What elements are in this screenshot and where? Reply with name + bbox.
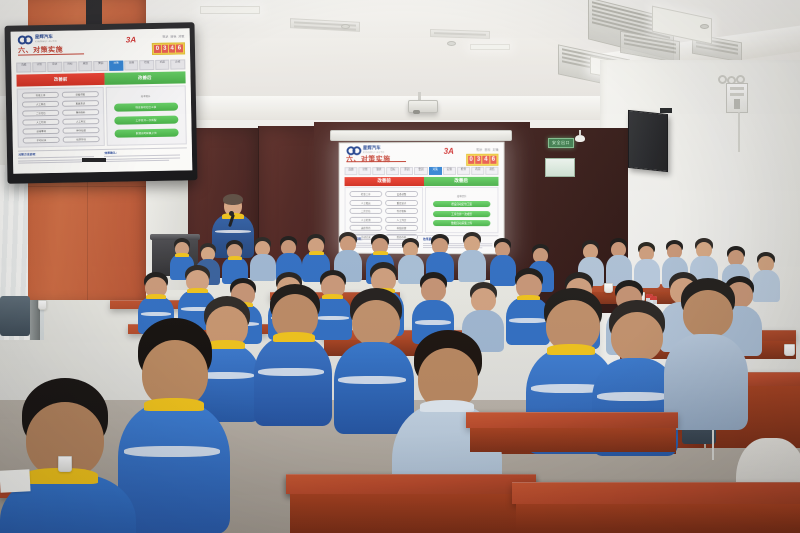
- slide-tab: 原因: [78, 61, 93, 71]
- slide-tab-active: 对策: [109, 61, 124, 71]
- slide-head-labels: 现状 目标 对策: [476, 147, 498, 151]
- microphone-head-icon: [229, 211, 234, 216]
- speaker-bracket: [660, 108, 672, 113]
- security-camera-icon: [575, 130, 585, 142]
- ceiling-light: [200, 6, 260, 14]
- slide-tab: 计划: [358, 167, 371, 175]
- tv-stand: [82, 158, 106, 162]
- paper-sheet: [0, 469, 31, 493]
- after-note: 效率提升: [114, 94, 178, 99]
- flow-column: 检查工序 人工搬运 二次定位 人工检测 返修等待 手动记录: [349, 191, 382, 229]
- slide-on-tv: 星辉汽车 XINGHUI AUTO 3A 现状 目标 对策 0 3: [11, 28, 193, 173]
- slide-head-labels: 现状 目标 对策: [162, 35, 184, 39]
- smoke-detector-icon: [341, 24, 350, 29]
- flow-box: 二次定位: [22, 110, 59, 117]
- flow-box: 重复装夹: [385, 199, 418, 205]
- band-after: 改善后: [424, 176, 498, 185]
- slide-tab: 要因: [94, 61, 109, 71]
- ceiling-light: [470, 44, 510, 50]
- flow-box: 返修等待: [23, 128, 60, 135]
- slide-tab: 选题: [17, 63, 32, 73]
- wall-notice-board: [545, 158, 575, 177]
- flow-box: 设备调整: [62, 91, 99, 98]
- flow-column: 设备调整 重复装夹 等待物料 人工判定 停线处理 纸质存档: [62, 91, 100, 143]
- tv-screen: 星辉汽车 XINGHUI AUTO 3A 现状 目标 对策 0 3: [11, 28, 193, 173]
- slide-tab: 选题: [344, 167, 357, 175]
- after-step: 增设自动定位工装: [114, 102, 178, 111]
- slide-mark-3a: 3A: [444, 147, 454, 156]
- slide-body: 检查工序 人工搬运 二次定位 人工检测 返修等待 手动记录 设备调整 重复装夹 …: [344, 187, 498, 234]
- wall-cable: [738, 112, 740, 152]
- slide-tab: 总结: [170, 60, 185, 70]
- exit-sign: 安全出口: [548, 138, 574, 148]
- ac-vent: [430, 29, 490, 39]
- slide-body: 检查工序 人工搬运 二次定位 人工检测 返修等待 手动记录 设备调整 重复装夹 …: [17, 85, 186, 148]
- flow-box: 等待物料: [385, 208, 418, 214]
- desk-row-front-overlap: [466, 412, 678, 428]
- slide-title: 六、对策实施: [346, 154, 391, 164]
- flow-box: 返修等待: [349, 225, 382, 231]
- slide-band-row: 改善前 改善后: [344, 176, 498, 186]
- desk-panel: [470, 428, 676, 452]
- band-before: 改善前: [17, 73, 105, 87]
- slide-tab: 现状: [372, 167, 385, 175]
- projector-lens-icon: [413, 110, 420, 114]
- slide-tab: 目标: [63, 62, 78, 72]
- after-step: 增设自动定位工装: [433, 201, 490, 207]
- presenter-stripe: [215, 230, 251, 233]
- ceiling-projector: [408, 100, 438, 113]
- desk-panel: [516, 504, 800, 533]
- flow-box: 停线处理: [385, 225, 418, 231]
- desk-row-front-overlap: [286, 474, 536, 494]
- slide-tab: 巩固: [471, 167, 484, 175]
- tv-wall-mount: [86, 0, 102, 26]
- flow-box: 人工检测: [23, 119, 60, 126]
- slide-timer: 0 3 4 6: [152, 42, 185, 55]
- company-logo-icon: 星辉汽车 XINGHUI AUTO: [18, 35, 57, 45]
- band-after: 改善后: [104, 72, 185, 86]
- wall-control-panel[interactable]: [726, 83, 748, 113]
- slide-tab: 实施: [443, 167, 456, 175]
- slide-tab: 现状: [47, 62, 62, 72]
- audience-member-front: [254, 284, 332, 420]
- logo-sub: XINGHUI AUTO: [35, 40, 57, 43]
- slide-header: 星辉汽车 XINGHUI AUTO 3A 现状 目标 对策 0 3: [11, 28, 191, 63]
- slide-tab: 检查: [140, 60, 155, 70]
- audience-member: [606, 238, 632, 284]
- flow-before: 检查工序 人工搬运 二次定位 人工检测 返修等待 手动记录 设备调整 重复装夹 …: [17, 87, 105, 148]
- audience-member-front: [664, 278, 748, 458]
- desk-row-front-overlap: [512, 482, 800, 504]
- audience-member: [222, 240, 248, 282]
- desk-panel: [290, 494, 534, 533]
- slide-tab: 原因: [400, 167, 413, 175]
- smoke-detector-icon: [447, 41, 456, 46]
- flow-box: 检查工序: [22, 92, 59, 99]
- flow-box: 纸质存档: [63, 136, 100, 143]
- flow-box: 人工搬运: [349, 199, 382, 205]
- flow-box: 二次定位: [349, 208, 382, 214]
- flow-box: 重复装夹: [62, 100, 99, 107]
- paper-cup: [38, 300, 47, 310]
- wall-speaker: [628, 110, 668, 172]
- flow-box: 设备调整: [385, 191, 418, 197]
- slide-tab-active: 对策: [429, 167, 442, 175]
- slide-tab: 实施: [124, 61, 139, 71]
- slide-timer: 0 3 4 6: [466, 153, 499, 165]
- audience-member: [458, 232, 486, 280]
- flow-box: 人工搬运: [22, 101, 59, 108]
- flow-column: 检查工序 人工搬运 二次定位 人工检测 返修等待 手动记录: [22, 92, 60, 144]
- after-step: 数据自动采集上传: [433, 220, 490, 226]
- flow-after: 效率提升 增设自动定位工装 工序合并一次成型 数据自动采集上传: [425, 187, 499, 234]
- flow-box: 检查工序: [349, 191, 382, 197]
- paper-cup: [58, 456, 72, 472]
- flow-before: 检查工序 人工搬运 二次定位 人工检测 返修等待 手动记录 设备调整 重复装夹 …: [344, 187, 422, 233]
- flow-box: 人工判定: [385, 216, 418, 222]
- after-step: 工序合并一次成型: [114, 115, 178, 124]
- slide-tab: 要因: [414, 167, 427, 175]
- slide-tab: 巩固: [155, 60, 170, 70]
- slide-title-underline: [346, 161, 406, 162]
- screen-roller-case: [330, 130, 512, 141]
- exit-sign-label: 安全出口: [549, 139, 573, 147]
- after-step: 工序合并一次成型: [433, 211, 490, 217]
- presenter-hair: [223, 194, 243, 205]
- slide-tabs: 选题 计划 现状 目标 原因 要因 对策 实施 检查 巩固 总结: [17, 60, 185, 73]
- flow-box: 人工检测: [349, 216, 382, 222]
- slide-mark-3a: 3A: [126, 35, 136, 44]
- flow-box: 停线处理: [63, 127, 100, 134]
- slide-tabs: 选题 计划 现状 目标 原因 要因 对策 实施 检查 巩固 总结: [344, 167, 498, 175]
- chair: [0, 296, 30, 336]
- flow-box: 手动记录: [23, 137, 60, 144]
- slide-tab: 目标: [386, 167, 399, 175]
- slide-header: 星辉汽车 XINGHUI AUTO 3A 现状 目标 对策 0 3 4 6: [340, 143, 504, 168]
- flow-column: 设备调整 重复装夹 等待物料 人工判定 停线处理 纸质存档: [385, 191, 418, 229]
- band-before: 改善前: [344, 177, 424, 186]
- note-column: 效果确认：: [104, 149, 186, 169]
- after-step: 数据自动采集上传: [114, 128, 178, 137]
- after-note: 效率提升: [433, 194, 490, 198]
- flow-after: 效率提升 增设自动定位工装 工序合并一次成型 数据自动采集上传: [105, 85, 186, 146]
- slide-tab: 计划: [32, 62, 47, 72]
- slide-tab: 总结: [485, 167, 498, 175]
- flow-box: 人工判定: [62, 118, 99, 125]
- slide-title-underline: [18, 53, 84, 55]
- training-room-photo: 安全出口 星辉汽车 XINGHUI AUTO: [0, 0, 800, 533]
- paper-cup: [784, 344, 795, 356]
- smoke-detector-icon: [700, 24, 709, 29]
- flow-box: 等待物料: [62, 109, 99, 116]
- slide-tab: 检查: [457, 167, 470, 175]
